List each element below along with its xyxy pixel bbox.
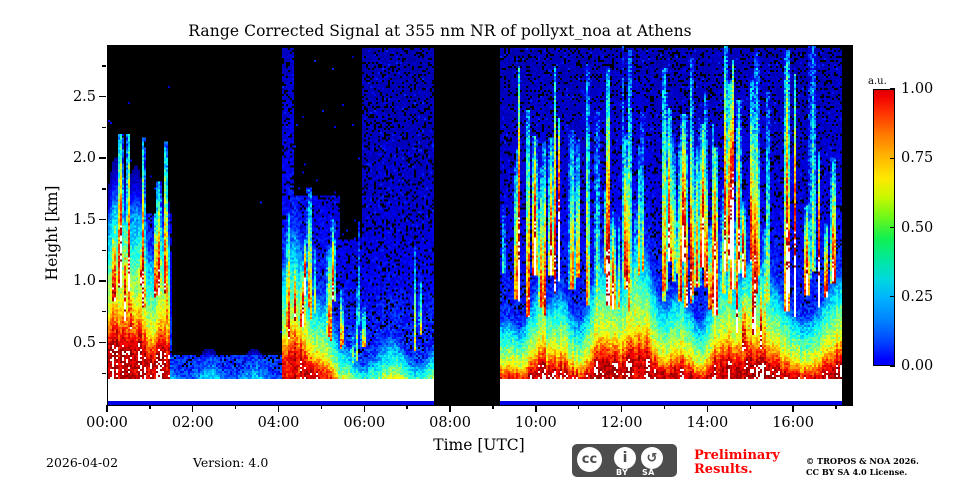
- colorbar-unit-label: a.u.: [868, 76, 887, 87]
- x-tick-label: 16:00: [772, 415, 814, 431]
- quicklook-figure: Range Corrected Signal at 355 nm NR of p…: [0, 0, 960, 480]
- cc-sa-label: SA: [642, 468, 655, 477]
- lidar-heatmap-axes[interactable]: [107, 45, 853, 406]
- cc-by-person-icon: i: [614, 447, 636, 469]
- x-tick-minor: [578, 405, 579, 409]
- x-tick-major: [621, 405, 622, 412]
- colorbar-tick-label: 1.00: [901, 81, 933, 97]
- x-tick-label: 14:00: [686, 415, 728, 431]
- y-tick-major: [99, 219, 106, 220]
- figure-title: Range Corrected Signal at 355 nm NR of p…: [0, 22, 880, 40]
- footer-version: Version: 4.0: [193, 455, 268, 470]
- preliminary-line-1: Preliminary: [694, 448, 780, 463]
- x-tick-minor: [492, 405, 493, 409]
- copyright-line-2: CC BY SA 4.0 License.: [806, 467, 907, 477]
- colorbar-tick: [890, 365, 895, 366]
- preliminary-results-notice: Preliminary Results.: [694, 449, 794, 477]
- y-tick-major: [99, 342, 106, 343]
- heatmap-canvas-wrapper: [108, 46, 852, 405]
- x-tick-label: 00:00: [86, 415, 128, 431]
- creative-commons-badge[interactable]: cc i ↺ BY SA: [572, 444, 677, 477]
- colorbar-tick: [890, 88, 895, 89]
- preliminary-line-2: Results.: [694, 462, 753, 477]
- y-tick-major: [99, 96, 106, 97]
- cc-by-label: BY: [616, 468, 628, 477]
- y-tick-label: 2.5: [47, 89, 96, 105]
- heatmap-canvas: [108, 46, 852, 405]
- x-tick-major: [106, 405, 107, 412]
- colorbar-tick-label: 0.50: [901, 220, 933, 236]
- x-tick-label: 04:00: [258, 415, 300, 431]
- y-tick-label: 0.5: [47, 335, 96, 351]
- x-tick-minor: [321, 405, 322, 409]
- x-tick-label: 12:00: [601, 415, 643, 431]
- y-tick-major: [99, 280, 106, 281]
- colorbar-tick-label: 0.25: [901, 289, 933, 305]
- copyright-line-1: © TROPOS & NOA 2026.: [806, 456, 919, 466]
- colorbar-tick-label: 0.75: [901, 150, 933, 166]
- y-tick-minor: [102, 373, 106, 374]
- x-tick-label: 02:00: [172, 415, 214, 431]
- y-tick-minor: [102, 127, 106, 128]
- x-tick-major: [278, 405, 279, 412]
- x-tick-minor: [406, 405, 407, 409]
- y-tick-minor: [102, 65, 106, 66]
- x-tick-label: 10:00: [515, 415, 557, 431]
- colorbar-tick: [890, 227, 895, 228]
- x-tick-minor: [149, 405, 150, 409]
- colorbar-tick: [890, 158, 895, 159]
- x-tick-major: [449, 405, 450, 412]
- cc-icon: cc: [577, 447, 602, 472]
- colorbar-tick-label: 0.00: [901, 358, 933, 374]
- x-tick-minor: [835, 405, 836, 409]
- footer-date: 2026-04-02: [46, 455, 118, 470]
- x-tick-minor: [664, 405, 665, 409]
- x-tick-major: [364, 405, 365, 412]
- x-tick-major: [535, 405, 536, 412]
- x-tick-major: [792, 405, 793, 412]
- copyright-notice: © TROPOS & NOA 2026. CC BY SA 4.0 Licens…: [806, 456, 956, 477]
- x-tick-minor: [750, 405, 751, 409]
- x-tick-major: [192, 405, 193, 412]
- y-axis-label: Height [km]: [43, 163, 61, 303]
- x-tick-label: 08:00: [429, 415, 471, 431]
- x-tick-minor: [235, 405, 236, 409]
- y-tick-minor: [102, 188, 106, 189]
- y-tick-major: [99, 157, 106, 158]
- x-tick-label: 06:00: [343, 415, 385, 431]
- x-tick-major: [707, 405, 708, 412]
- cc-sa-share-alike-icon: ↺: [641, 447, 663, 469]
- y-tick-minor: [102, 250, 106, 251]
- colorbar-tick: [890, 296, 895, 297]
- y-tick-minor: [102, 311, 106, 312]
